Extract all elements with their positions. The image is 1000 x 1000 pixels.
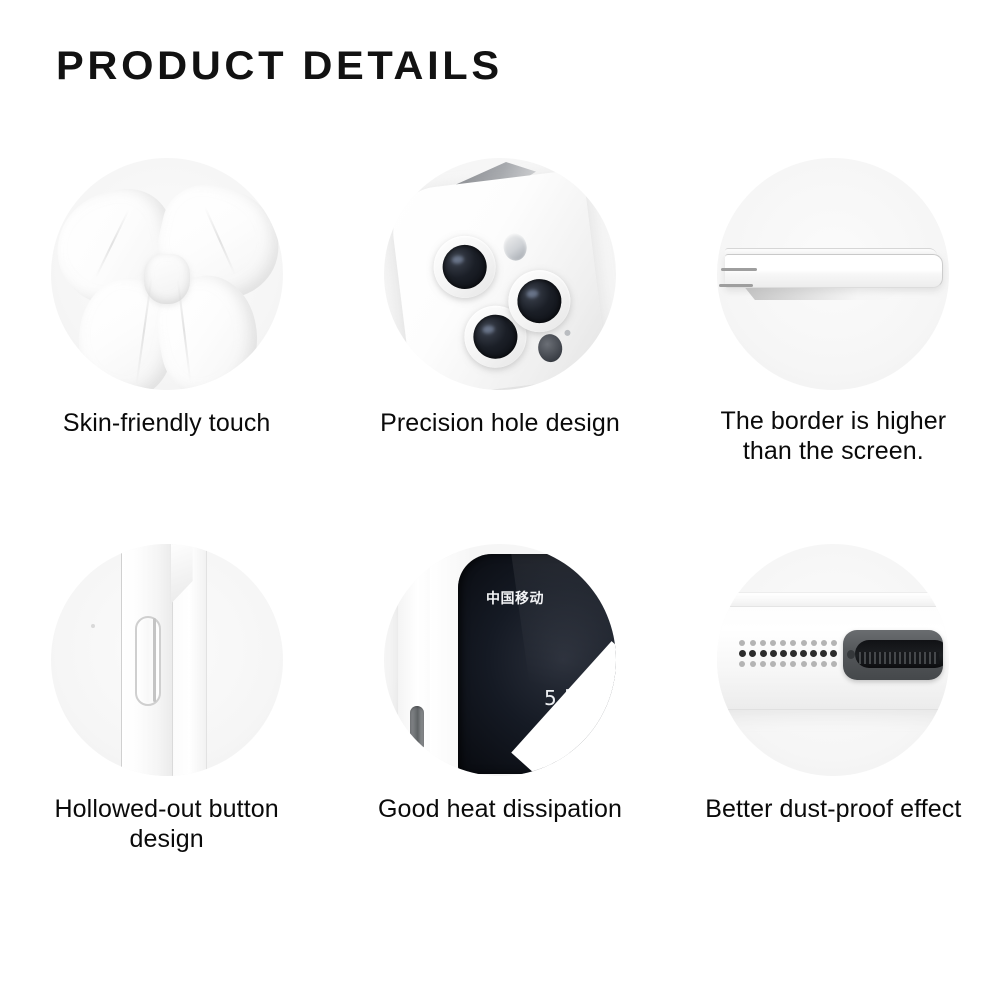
grille-row bbox=[739, 640, 837, 646]
camera-lens-icon bbox=[430, 232, 499, 301]
lidar-sensor-icon bbox=[537, 333, 564, 364]
grille-row bbox=[739, 661, 837, 667]
feature-caption-line-1: The border is higher bbox=[720, 406, 946, 436]
feature-precision-hole-design: Precision hole design bbox=[333, 140, 666, 520]
feature-good-heat-dissipation: 中国移动 5 周二 1 Good heat dissipation bbox=[333, 520, 666, 900]
rim-edge-line bbox=[721, 268, 757, 271]
feature-caption: Better dust-proof effect bbox=[705, 794, 961, 824]
feature-caption: Skin-friendly touch bbox=[63, 408, 271, 438]
bow-illustration bbox=[51, 158, 283, 390]
lens-glint bbox=[451, 255, 464, 264]
feature-caption: Good heat dissipation bbox=[378, 794, 622, 824]
feature-grid: Skin-friendly touch bbox=[0, 140, 1000, 900]
case-lip-illustration bbox=[717, 158, 949, 390]
feature-caption: The border is higher than the screen. bbox=[720, 406, 946, 466]
photo-phone-case-camera-module bbox=[384, 158, 616, 390]
camera-module-illustration bbox=[384, 158, 616, 390]
bottom-edge-illustration bbox=[717, 544, 949, 776]
phone-edge-illustration: 中国移动 5 周二 1 bbox=[384, 544, 616, 776]
side-button-illustration bbox=[51, 544, 283, 776]
surface-speck bbox=[91, 624, 95, 628]
status-bar-carrier-label: 中国移动 bbox=[486, 588, 544, 608]
port-side-pin bbox=[847, 650, 855, 659]
photo-white-silicone-bow-fabric bbox=[51, 158, 283, 390]
page-title: PRODUCT DETAILS bbox=[56, 44, 784, 88]
photo-phone-screen-side-edge: 中国移动 5 周二 1 bbox=[384, 544, 616, 776]
charging-port-cutout bbox=[843, 630, 943, 680]
rim-underside-shadow bbox=[745, 288, 905, 300]
case-back-body bbox=[388, 169, 608, 390]
product-details-page: PRODUCT DETAILS Skin-friendly touch bbox=[0, 0, 1000, 1000]
phone-screen: 中国移动 5 周二 1 bbox=[458, 554, 616, 774]
microphone-dot-icon bbox=[564, 330, 571, 337]
port-connector-detail bbox=[859, 652, 939, 664]
speaker-grille-icon bbox=[739, 640, 837, 674]
feature-raised-border: The border is higher than the screen. bbox=[667, 140, 1000, 520]
case-rim-bar bbox=[725, 254, 943, 288]
case-edge-top-strip bbox=[717, 592, 949, 606]
feature-skin-friendly-touch: Skin-friendly touch bbox=[0, 140, 333, 520]
lens-glint bbox=[482, 324, 495, 333]
volume-button-cutout bbox=[410, 706, 424, 752]
feature-hollowed-out-button-design: Hollowed-out button design bbox=[0, 520, 333, 900]
camera-flash-icon bbox=[502, 232, 528, 262]
button-cutout-edge-line bbox=[153, 618, 156, 702]
photo-case-edge-lip-profile bbox=[717, 158, 949, 390]
title-bar: PRODUCT DETAILS bbox=[56, 44, 756, 94]
feature-caption: Precision hole design bbox=[380, 408, 620, 438]
photo-bottom-edge-speaker-and-port bbox=[717, 544, 949, 776]
feature-better-dust-proof-effect: Better dust-proof effect bbox=[667, 520, 1000, 900]
power-button-cutout bbox=[135, 616, 161, 706]
photo-side-button-cutout bbox=[51, 544, 283, 776]
rim-edge-line bbox=[719, 284, 753, 287]
lens-glint bbox=[526, 289, 539, 298]
feature-caption: Hollowed-out button design bbox=[17, 794, 317, 854]
feature-caption-line-2: than the screen. bbox=[720, 436, 946, 466]
grille-row bbox=[739, 650, 837, 657]
